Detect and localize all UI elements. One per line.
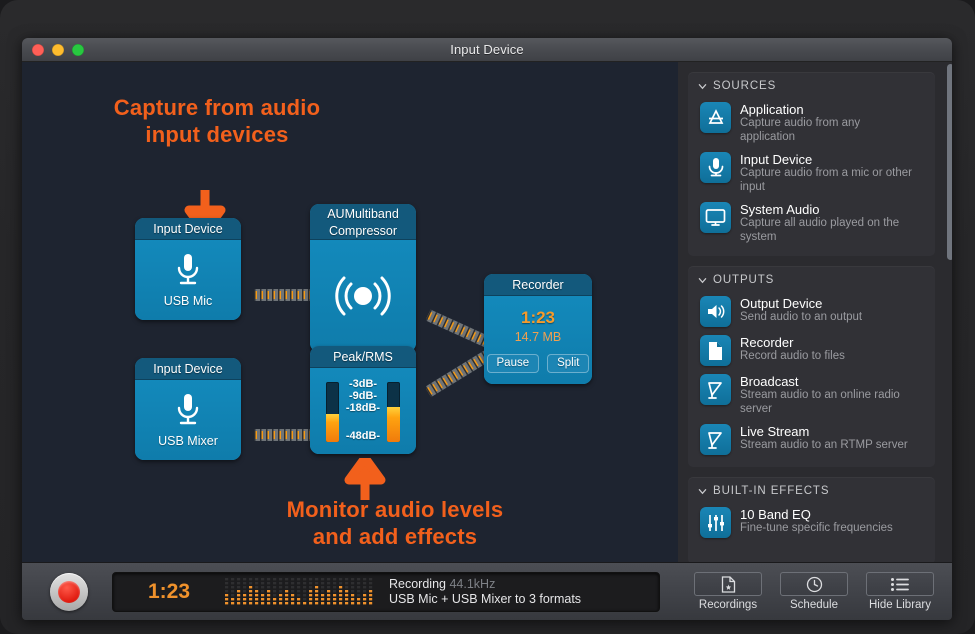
library-item-title: Recorder [740,335,845,350]
satellite-dish-icon [700,424,731,455]
desktop-background: Input Device Capture from audio input de… [0,0,975,634]
library-item-desc: Send audio to an output [740,311,862,325]
hide-library-button[interactable]: Hide Library [864,572,936,611]
chevron-down-icon[interactable] [698,276,707,285]
window-title: Input Device [22,42,952,57]
db-mark: -3dB- [349,378,377,390]
toolbar-button-group: Recordings Schedule [692,572,936,611]
library-item-title: 10 Band EQ [740,507,893,522]
library-item-text: Input Device Capture audio from a mic or… [740,152,915,194]
signal-flow-canvas[interactable]: Capture from audio input devices [22,62,678,562]
record-button[interactable] [50,573,88,611]
hide-library-label: Hide Library [869,599,931,611]
transport-sample-rate: 44.1kHz [449,577,495,591]
node-header: Recorder [484,274,592,296]
node-header: AUMultiband Compressor [310,204,416,240]
microphone-icon [700,152,731,183]
library-item-live-stream[interactable]: Live Stream Stream audio to an RTMP serv… [688,420,935,459]
transport-status-label: Recording [389,577,446,591]
annotation-bottom-line1: Monitor audio levels [240,496,550,523]
annotation-top-line2: input devices [72,121,362,148]
annotation-arrow-up-icon [342,458,388,500]
chevron-down-icon[interactable] [698,82,707,91]
split-button[interactable]: Split [547,354,589,373]
library-item-10-band-eq[interactable]: 10 Band EQ Fine-tune specific frequencie… [688,503,935,542]
library-item-desc: Capture all audio played on the system [740,217,915,244]
clock-icon [780,572,848,596]
transport-status-line1: Recording 44.1kHz [389,577,581,592]
bottom-toolbar: 1:23 Recording 44.1kHz USB Mic + USB Mix… [22,562,952,620]
pause-button[interactable]: Pause [487,354,540,373]
library-group-header-outputs[interactable]: OUTPUTS [688,272,935,292]
library-item-desc: Stream audio to an online radio server [740,389,915,416]
library-group-title: OUTPUTS [713,274,774,286]
annotation-bottom: Monitor audio levels and add effects [240,496,550,550]
recorder-buttons: Pause Split [487,354,590,373]
annotation-bottom-line2: and add effects [240,523,550,550]
library-item-desc: Capture audio from a mic or other input [740,167,915,194]
annotation-top: Capture from audio input devices [72,94,362,148]
meter-right [387,382,400,442]
library-item-desc: Record audio to files [740,350,845,364]
node-body: -3dB- -9dB- -18dB- -48dB- [310,368,416,454]
meter-left-fill [326,414,339,442]
document-icon [700,335,731,366]
library-item-output-device[interactable]: Output Device Send audio to an output [688,292,935,331]
library-item-title: System Audio [740,202,915,217]
transport-elapsed-time: 1:23 [113,580,225,604]
annotation-top-line1: Capture from audio [72,94,362,121]
library-group-sources: SOURCES Application Capture audio from a… [688,72,935,256]
library-group-header-sources[interactable]: SOURCES [688,78,935,98]
library-scrollbar[interactable] [947,64,952,260]
library-item-system-audio[interactable]: System Audio Capture all audio played on… [688,198,935,248]
chevron-down-icon[interactable] [698,487,707,496]
speaker-icon [700,296,731,327]
app-window: Input Device Capture from audio input de… [22,38,952,620]
library-item-desc: Capture audio from any application [740,117,915,144]
library-group-builtin-effects: BUILT-IN EFFECTS [688,477,935,562]
node-header: Peak/RMS [310,346,416,368]
node-aumultiband-compressor[interactable]: AUMultiband Compressor [310,204,416,352]
library-item-application[interactable]: Application Capture audio from any appli… [688,98,935,148]
library-item-desc: Fine-tune specific frequencies [740,522,893,536]
library-item-text: Application Capture audio from any appli… [740,102,915,144]
microphone-icon [173,392,203,430]
satellite-dish-icon [700,374,731,405]
transport-status-line2: USB Mic + USB Mixer to 3 formats [389,592,581,607]
library-item-title: Output Device [740,296,862,311]
library-group-header-builtin-effects[interactable]: BUILT-IN EFFECTS [688,483,935,503]
library-item-input-device[interactable]: Input Device Capture audio from a mic or… [688,148,935,198]
library-item-desc: Stream audio to an RTMP server [740,439,908,453]
library-item-text: Live Stream Stream audio to an RTMP serv… [740,424,908,453]
library-group-title: SOURCES [713,80,776,92]
microphone-icon [173,252,203,290]
node-label: USB Mixer [158,434,218,448]
node-header: Input Device [135,218,241,240]
recorder-elapsed-time: 1:23 [521,308,555,328]
recordings-label: Recordings [699,599,757,611]
library-panel[interactable]: SOURCES Application Capture audio from a… [678,62,952,562]
recorder-file-size: 14.7 MB [515,330,562,344]
node-body [310,240,416,352]
library-item-title: Broadcast [740,374,915,389]
display-monitor-icon [700,202,731,233]
db-mark: -9dB- [349,390,377,402]
applications-folder-icon [700,102,731,133]
db-mark: -48dB- [346,430,380,442]
library-item-text: System Audio Capture all audio played on… [740,202,915,244]
transport-level-meter [225,578,375,606]
recordings-document-icon [694,572,762,596]
record-dot-icon [58,581,80,603]
node-input-device-usb-mic[interactable]: Input Device USB Mic [135,218,241,320]
library-item-text: Output Device Send audio to an output [740,296,862,325]
list-icon [866,572,934,596]
node-header: Input Device [135,358,241,380]
node-input-device-usb-mixer[interactable]: Input Device USB Mixer [135,358,241,460]
library-item-recorder[interactable]: Recorder Record audio to files [688,331,935,370]
equalizer-sliders-icon [700,507,731,538]
library-item-text: Broadcast Stream audio to an online radi… [740,374,915,416]
library-item-text: 10 Band EQ Fine-tune specific frequencie… [740,507,893,536]
level-meter-group: -3dB- -9dB- -18dB- -48dB- [310,368,416,454]
node-header-line2: Compressor [310,223,416,240]
library-item-text: Recorder Record audio to files [740,335,845,364]
library-item-title: Live Stream [740,424,908,439]
node-header-line1: AUMultiband [310,206,416,223]
library-item-broadcast[interactable]: Broadcast Stream audio to an online radi… [688,370,935,420]
library-group-outputs: OUTPUTS Output Device Send au [688,266,935,467]
schedule-button[interactable]: Schedule [778,572,850,611]
schedule-label: Schedule [790,599,838,611]
node-body: 1:23 14.7 MB Pause Split [484,296,592,384]
node-recorder[interactable]: Recorder 1:23 14.7 MB Pause Split [484,274,592,384]
meter-left [326,382,339,442]
db-mark: -18dB- [346,402,380,414]
library-item-title: Input Device [740,152,915,167]
recordings-button[interactable]: Recordings [692,572,764,611]
meter-right-fill [387,407,400,442]
window-body: Capture from audio input devices [22,62,952,562]
library-group-title: BUILT-IN EFFECTS [713,485,829,497]
broadcast-waves-icon [332,272,394,320]
library-item-title: Application [740,102,915,117]
node-body: USB Mixer [135,380,241,460]
transport-status: Recording 44.1kHz USB Mic + USB Mixer to… [389,577,581,607]
node-label: USB Mic [164,294,213,308]
node-peak-rms[interactable]: Peak/RMS -3dB- -9dB- [310,346,416,454]
node-body: USB Mic [135,240,241,320]
transport-display: 1:23 Recording 44.1kHz USB Mic + USB Mix… [112,572,660,612]
window-titlebar: Input Device [22,38,952,62]
